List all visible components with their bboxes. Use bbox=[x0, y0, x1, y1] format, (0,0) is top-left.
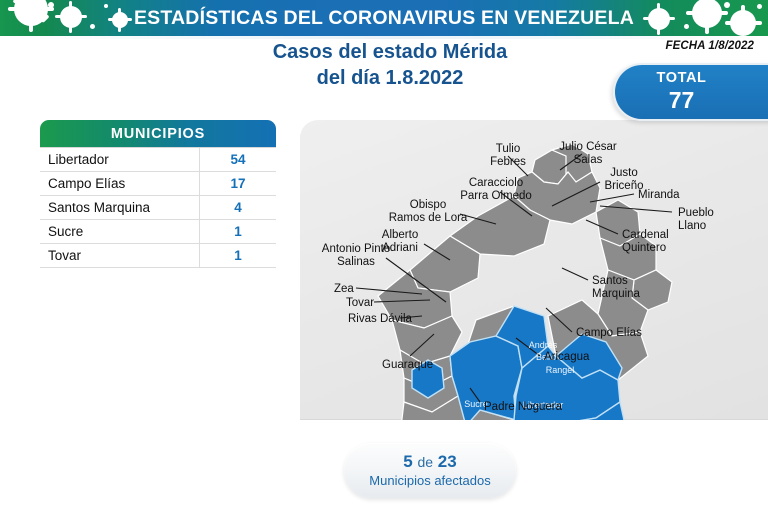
total-label: TOTAL bbox=[657, 71, 707, 86]
municipio-count: 1 bbox=[199, 220, 276, 243]
municipio-name: Sucre bbox=[40, 224, 199, 239]
map-callout-label-cardenal-quintero: Quintero bbox=[622, 242, 666, 254]
date-label: FECHA 1/8/2022 bbox=[665, 40, 754, 52]
map-callout-label-obispo-ramos-de-lora: Obispo bbox=[410, 199, 446, 211]
table-row: Santos Marquina4 bbox=[40, 196, 276, 220]
map-callout-label-tulio-febres: Febres bbox=[490, 156, 526, 168]
subtitle-block: Casos del estado Mérida del día 1.8.2022 bbox=[190, 40, 590, 91]
map-callout-label-julio-cesar-salas: Julio César bbox=[559, 141, 617, 153]
affected-total: 23 bbox=[438, 452, 457, 471]
map-callout-label-antonio-pinto-salinas: Salinas bbox=[337, 256, 375, 268]
page-title: ESTADÍSTICAS DEL CORONAVIRUS EN VENEZUEL… bbox=[0, 0, 768, 36]
map-callout-label-pueblo-llano: Llano bbox=[678, 220, 706, 232]
affected-count-line: 5 de 23 bbox=[403, 453, 456, 472]
map-callout-label-campo-elias: Campo Elías bbox=[576, 327, 642, 339]
table-body: Libertador54Campo Elías17Santos Marquina… bbox=[40, 147, 276, 268]
map-callout-label-caracciolo-parra-olmedo: Caracciolo bbox=[469, 177, 523, 189]
municipio-count: 17 bbox=[199, 172, 276, 195]
total-badge: TOTAL 77 bbox=[613, 63, 768, 121]
municipio-count: 54 bbox=[199, 148, 276, 171]
map-callout-label-obispo-ramos-de-lora: Ramos de Lora bbox=[389, 212, 468, 224]
municipio-count: 1 bbox=[199, 244, 276, 267]
affected-municipalities-badge: 5 de 23 Municipios afectados bbox=[344, 443, 516, 498]
map-callout-label-padre-noguera: Padre Noguera bbox=[484, 401, 563, 413]
map-callout-label-rivas-davila: Rivas Dávila bbox=[348, 313, 413, 325]
map-callout-label-tovar: Tovar bbox=[346, 297, 374, 309]
map-callout-label-santos-marquina: Santos bbox=[592, 275, 628, 287]
table-row: Libertador54 bbox=[40, 147, 276, 172]
subtitle-line-2: del día 1.8.2022 bbox=[190, 66, 590, 92]
map-callout-label-alberto-adriani: Alberto bbox=[382, 229, 418, 241]
municipio-name: Campo Elías bbox=[40, 176, 199, 191]
map-callout-label-guaraque: Guaraque bbox=[382, 359, 433, 371]
subtitle-line-1: Casos del estado Mérida bbox=[190, 40, 590, 66]
table-row: Tovar1 bbox=[40, 244, 276, 268]
total-value: 77 bbox=[669, 87, 695, 113]
affected-de: de bbox=[417, 454, 433, 470]
map-callout-label-caracciolo-parra-olmedo: Parra Olmedo bbox=[460, 190, 532, 202]
infographic-root: ESTADÍSTICAS DEL CORONAVIRUS EN VENEZUEL… bbox=[0, 0, 768, 513]
table-row: Sucre1 bbox=[40, 220, 276, 244]
map-callout-label-tulio-febres: Tulio bbox=[496, 143, 521, 155]
municipio-name: Santos Marquina bbox=[40, 200, 199, 215]
map-inner-label: Andrés bbox=[529, 340, 558, 350]
map-callout-label-aricagua: Aricagua bbox=[544, 351, 590, 363]
map-panel: AndrésBelloRangelSucreLibertadorArzobisp… bbox=[300, 120, 768, 420]
municipio-name: Libertador bbox=[40, 152, 199, 167]
map-callout-label-justo-briceno: Justo bbox=[610, 167, 638, 179]
header-underline bbox=[0, 36, 768, 39]
municipio-name: Tovar bbox=[40, 248, 199, 263]
map-callout-label-santos-marquina: Marquina bbox=[592, 288, 641, 300]
map-callout-label-cardenal-quintero: Cardenal bbox=[622, 229, 669, 241]
merida-state-map: AndrésBelloRangelSucreLibertadorArzobisp… bbox=[300, 120, 768, 420]
map-callout-label-miranda: Miranda bbox=[638, 189, 680, 201]
leader-santos-marquina bbox=[562, 268, 588, 280]
map-inner-label: Rangel bbox=[546, 365, 575, 375]
map-callout-label-antonio-pinto-salinas: Antonio Pinto bbox=[322, 243, 390, 255]
affected-caption: Municipios afectados bbox=[369, 473, 490, 488]
table-header: MUNICIPIOS bbox=[40, 120, 276, 147]
header-banner: ESTADÍSTICAS DEL CORONAVIRUS EN VENEZUEL… bbox=[0, 0, 768, 36]
map-callout-label-pueblo-llano: Pueblo bbox=[678, 207, 714, 219]
map-callout-label-julio-cesar-salas: Salas bbox=[574, 154, 603, 166]
affected-count: 5 bbox=[403, 452, 412, 471]
municipios-table: MUNICIPIOS Libertador54Campo Elías17Sant… bbox=[40, 120, 276, 268]
table-row: Campo Elías17 bbox=[40, 172, 276, 196]
map-callout-label-zea: Zea bbox=[334, 283, 354, 295]
municipio-count: 4 bbox=[199, 196, 276, 219]
